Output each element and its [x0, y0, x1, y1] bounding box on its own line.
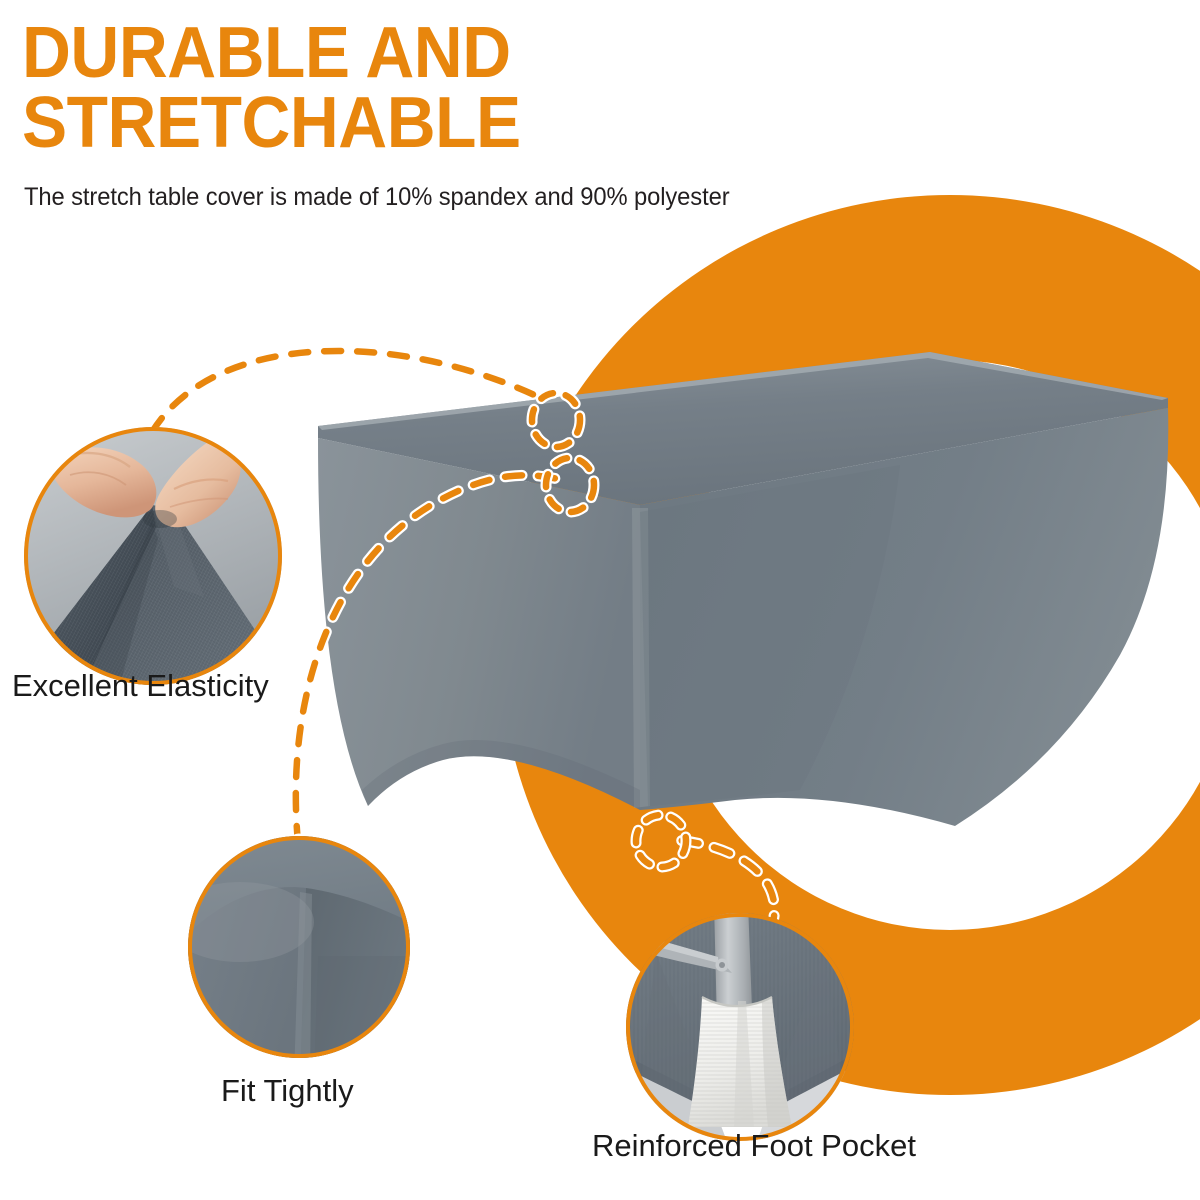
- title-line-1: DURABLE AND: [22, 18, 699, 88]
- table-corner-photo: [188, 836, 410, 1058]
- page-title: DURABLE AND STRETCHABLE: [22, 18, 742, 158]
- title-line-2: STRETCHABLE: [22, 88, 699, 158]
- marker-corner-fold: [546, 458, 594, 512]
- infographic-canvas: DURABLE AND STRETCHABLE The stretch tabl…: [0, 0, 1200, 1200]
- foot-pocket-photo: [626, 913, 854, 1141]
- caption-reinforced-foot-pocket: Reinforced Foot Pocket: [592, 1128, 916, 1164]
- fabric-pinch-photo: [24, 427, 282, 685]
- inset-photo-elasticity: [24, 427, 282, 685]
- marker-top-surface: [532, 393, 580, 447]
- inset-photo-fit: [188, 836, 410, 1058]
- inset-photo-pocket: [626, 913, 854, 1141]
- caption-excellent-elasticity: Excellent Elasticity: [12, 668, 269, 704]
- connector-fit: [296, 475, 558, 843]
- connector-elasticity: [152, 351, 545, 432]
- caption-fit-tightly: Fit Tightly: [221, 1073, 354, 1109]
- page-subtitle: The stretch table cover is made of 10% s…: [24, 182, 730, 212]
